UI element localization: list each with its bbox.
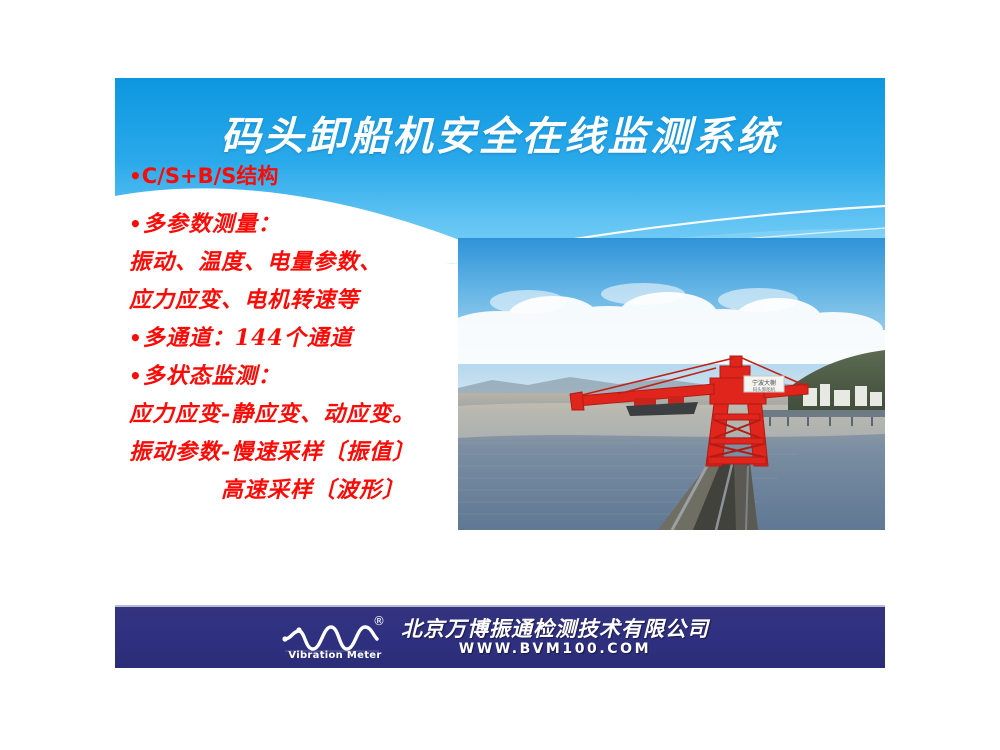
list-item-label: C/S+B/S结构 [142, 164, 279, 188]
list-item: •多状态监测： [129, 365, 479, 387]
logo-wordmark: Vibration Meter [285, 650, 385, 661]
list-item: •C/S+B/S结构 [129, 166, 479, 187]
bullet-marker: • [129, 212, 143, 236]
bullet-marker: • [129, 364, 143, 388]
port-crane-photo: 宁波大榭 码头卸船机 [458, 238, 885, 530]
list-item-label: 振动参数-慢速采样〔振值〕 [129, 439, 415, 465]
list-item: 应力应变、电机转速等 [129, 289, 479, 311]
bullet-marker: • [129, 164, 142, 188]
list-item-label: 多参数测量： [143, 211, 281, 237]
svg-text:宁波大榭: 宁波大榭 [752, 379, 776, 387]
list-item: 振动、温度、电量参数、 [129, 251, 479, 273]
list-item: 振动参数-慢速采样〔振值〕 [129, 441, 479, 463]
list-item-label: 多状态监测： [143, 363, 281, 389]
list-item-label: 多通道：144个通道 [143, 325, 353, 351]
company-url: WWW.BVM100.COM [401, 641, 709, 657]
bullet-marker: • [129, 326, 143, 350]
list-item-label: 高速采样〔波形〕 [221, 477, 405, 503]
company-name: 北京万博振通检测技术有限公司 [401, 618, 709, 640]
footer-inner: ® Vibration Meter 北京万博振通检测技术有限公司 WWW.BVM… [279, 615, 709, 661]
list-item-label: 振动、温度、电量参数、 [129, 249, 382, 275]
footer-banner: ® Vibration Meter 北京万博振通检测技术有限公司 WWW.BVM… [115, 605, 885, 668]
list-item: 高速采样〔波形〕 [129, 479, 479, 501]
list-item: 应力应变-静应变、动应变。 [129, 403, 479, 425]
page-title: 码头卸船机安全在线监测系统 [115, 104, 885, 162]
bullet-list: •C/S+B/S结构 •多参数测量： 振动、温度、电量参数、 应力应变、电机转速… [129, 166, 479, 517]
vibration-meter-logo-icon: ® Vibration Meter [279, 615, 387, 661]
list-item: •多通道：144个通道 [129, 327, 479, 349]
svg-text:码头卸船机: 码头卸船机 [753, 386, 776, 393]
list-item: •多参数测量： [129, 213, 479, 235]
footer-text-block: 北京万博振通检测技术有限公司 WWW.BVM100.COM [401, 618, 709, 657]
registered-trademark-icon: ® [373, 614, 385, 628]
list-item-label: 应力应变、电机转速等 [129, 287, 359, 313]
list-item-label: 应力应变-静应变、动应变。 [129, 401, 415, 427]
slide-content-panel: 码头卸船机安全在线监测系统 •C/S+B/S结构 •多参数测量： 振动、温度、电… [115, 78, 885, 531]
slide-canvas: 码头卸船机安全在线监测系统 •C/S+B/S结构 •多参数测量： 振动、温度、电… [0, 0, 1000, 750]
